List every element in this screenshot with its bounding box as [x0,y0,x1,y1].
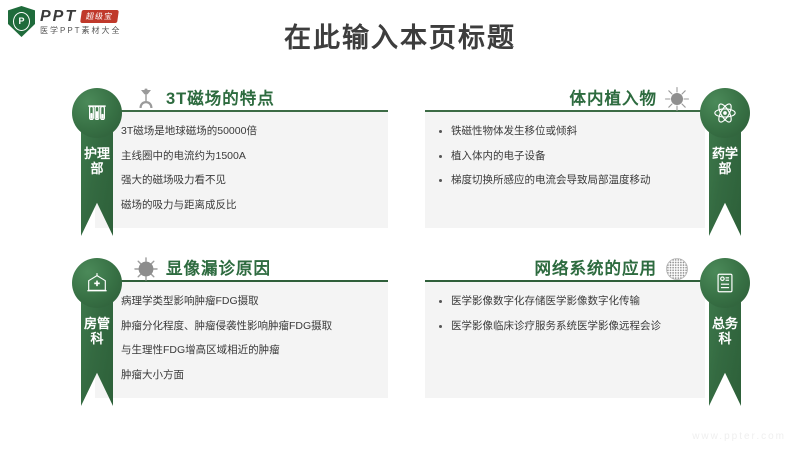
test-tubes-icon [72,88,122,138]
ribbon-nursing-label: 护理部 [81,146,113,176]
panel-2-heading: 体内植入物 [570,86,691,112]
panel-3-heading: 显像漏诊原因 [133,256,271,282]
list-item: 铁磁性物体发生移位或倾斜 [451,126,695,137]
panel-3-bullet-list: 病理学类型影响肿瘤FDG摄取 肿瘤分化程度、肿瘤侵袭性影响肿瘤FDG摄取 与生理… [95,280,388,380]
content-row-2: 病理学类型影响肿瘤FDG摄取 肿瘤分化程度、肿瘤侵袭性影响肿瘤FDG摄取 与生理… [0,258,800,408]
textured-sphere-icon [664,256,690,282]
list-item: 植入体内的电子设备 [451,151,695,162]
list-item: 3T磁场是地球磁场的50000倍 [121,126,378,137]
list-item: 肿瘤大小方面 [121,370,378,381]
atom-icon [700,88,750,138]
content-row-1: 3T磁场是地球磁场的50000倍 主线圈中的电流约为1500A 强大的磁场吸力看… [0,88,800,238]
list-item: 肿瘤分化程度、肿瘤侵袭性影响肿瘤FDG摄取 [121,321,378,332]
ribbon-facilities-label: 房管科 [81,316,113,346]
ribbon-general-affairs-label: 总务科 [709,316,741,346]
panel-3: 病理学类型影响肿瘤FDG摄取 肿瘤分化程度、肿瘤侵袭性影响肿瘤FDG摄取 与生理… [95,280,388,398]
panel-1-bullet-list: 3T磁场是地球磁场的50000倍 主线圈中的电流约为1500A 强大的磁场吸力看… [95,110,388,210]
panel-2-heading-text: 体内植入物 [570,91,658,108]
cell-sphere-icon [133,256,159,282]
panel-1-heading: 3T磁场的特点 [133,86,275,112]
microscope-icon [133,86,159,112]
panel-4-bullet-list: 医学影像数字化存储医学影像数字化传输 医学影像临床诊疗服务系统医学影像远程会诊 [425,280,705,331]
page-title: 在此输入本页标题 [0,16,800,55]
panel-4-heading: 网络系统的应用 [535,256,691,282]
list-item: 磁场的吸力与距离成反比 [121,200,378,211]
list-item: 梯度切换所感应的电流会导致局部温度移动 [451,175,695,186]
hospital-icon [72,258,122,308]
watermark: www.ppter.com [692,431,786,442]
list-item: 医学影像临床诊疗服务系统医学影像远程会诊 [451,321,695,332]
panel-4-heading-text: 网络系统的应用 [535,261,658,278]
list-item: 与生理性FDG增高区域相近的肿瘤 [121,345,378,356]
list-item: 病理学类型影响肿瘤FDG摄取 [121,296,378,307]
clipboard-icon [700,258,750,308]
slide-canvas: P PPT 超级宝 医学PPT素材大全 在此输入本页标题 3T磁场是地球磁场的5… [0,0,800,450]
list-item: 医学影像数字化存储医学影像数字化传输 [451,296,695,307]
panel-3-heading-text: 显像漏诊原因 [166,261,271,278]
list-item: 主线圈中的电流约为1500A [121,151,378,162]
panel-1: 3T磁场是地球磁场的50000倍 主线圈中的电流约为1500A 强大的磁场吸力看… [95,110,388,228]
panel-2-bullet-list: 铁磁性物体发生移位或倾斜 植入体内的电子设备 梯度切换所感应的电流会导致局部温度… [425,110,705,186]
panel-4: 医学影像数字化存储医学影像数字化传输 医学影像临床诊疗服务系统医学影像远程会诊 [425,280,705,398]
virus-burst-icon [664,86,690,112]
panel-2: 铁磁性物体发生移位或倾斜 植入体内的电子设备 梯度切换所感应的电流会导致局部温度… [425,110,705,228]
panel-1-heading-text: 3T磁场的特点 [166,91,275,108]
list-item: 强大的磁场吸力看不见 [121,175,378,186]
ribbon-pharmacy-label: 药学部 [709,146,741,176]
